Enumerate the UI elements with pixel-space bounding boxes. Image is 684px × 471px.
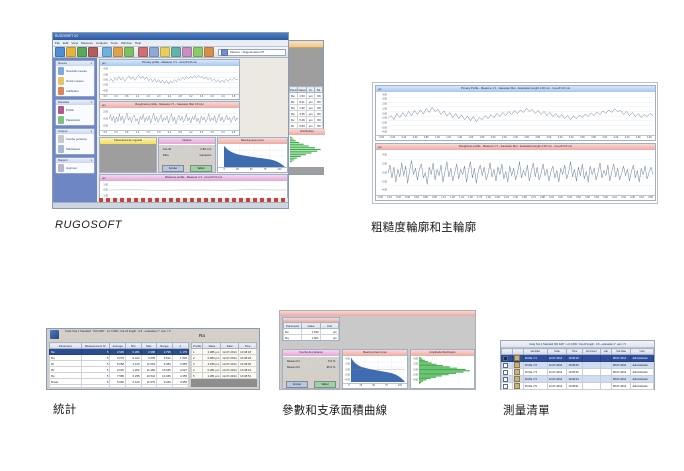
table-row[interactable]: Profile n°3 12-07-2014 10:48:36 08-07-20… <box>502 369 654 376</box>
cell-date: 12-07-2014 <box>547 369 567 376</box>
new-file-icon[interactable] <box>55 47 65 57</box>
sidebar-item-profils[interactable]: Profils <box>56 105 94 115</box>
table-row[interactable]: Profile n°2 12-07-2014 10:48:29 08-07-20… <box>502 362 654 369</box>
x-tick: 1.80 <box>480 136 485 139</box>
sidebar-item-label: Nouvelle mesure <box>66 69 87 73</box>
checkbox-icon[interactable] <box>503 384 508 389</box>
cell-value: 1.081 µm <box>203 373 221 379</box>
sidebar-item-label: Statistiques <box>66 147 80 151</box>
chevron-icon[interactable]: ▾ <box>91 158 92 163</box>
bac-window[interactable]: Parameter Value Unit Ra1.530µm Rq1.921µm… <box>279 310 476 390</box>
cell-identifier: Profile n°5 <box>523 383 547 390</box>
bac-options-fields: Niveau C1 5.0 % Niveau C2 95.0 % <box>285 357 338 370</box>
row-checkbox-cell[interactable] <box>502 383 513 390</box>
cell-unit: µm <box>306 123 314 129</box>
y-tick: 4.00 <box>382 93 387 96</box>
cell-date: 12-07-2014 <box>221 373 239 379</box>
panel-title-parameters: Paramètres de rugosité <box>114 138 142 144</box>
chart-roughness-profile[interactable]: µm Roughness profile - Measure n°1 - Gau… <box>99 101 240 136</box>
primary-profile-trace <box>109 67 238 93</box>
chart-plot-hist: 4.00 2.00 0.00 -2.00 -4.00 <box>411 356 474 389</box>
x-tick: 3.04 <box>549 196 554 199</box>
x-tick: 0.16 <box>387 196 392 199</box>
stats-tab-ra[interactable]: Ra <box>199 333 205 338</box>
x-tick: 25 <box>236 168 239 171</box>
table-row[interactable]: RSm 5 75 48 67 27 12 <box>50 385 189 388</box>
y-tick: 2.00 <box>382 162 387 165</box>
x-tick: 2.24 <box>504 196 509 199</box>
row-checkbox-cell[interactable] <box>502 362 513 369</box>
x-tick: 2.56 <box>522 196 527 199</box>
x-tick: 2.8 <box>178 131 181 134</box>
x-tick: 0.64 <box>414 196 419 199</box>
x-tick: 2.00 <box>491 136 496 139</box>
cell-tol: OK <box>314 123 322 129</box>
x-tick: 1.20 <box>446 136 451 139</box>
x-tick: 3.6 <box>200 131 203 134</box>
x-tick: 3.2 <box>189 131 192 134</box>
cancel-button[interactable]: Annuler <box>286 381 308 388</box>
address-bar[interactable]: Mesure - Rugosimètre RT <box>218 49 286 56</box>
option-value[interactable]: 95.0 % <box>311 364 337 370</box>
chart-histogram-right[interactable]: Distribution <box>289 129 325 167</box>
caption-measurement-list: 測量清單 <box>503 402 550 418</box>
sidebar-group-title-resultats: Résultats <box>58 100 69 105</box>
bac-param-table[interactable]: Parameter Value Unit Ra1.530µm Rq1.921µm… <box>283 322 339 341</box>
x-tick: 0.80 <box>424 136 429 139</box>
sidebar-group-analyse[interactable]: Analyse ▾ Courbe portance Statistiques <box>55 128 95 155</box>
y-tick: 1.00 <box>382 107 387 110</box>
chart-icon[interactable] <box>171 47 181 57</box>
x-tick: 0.48 <box>405 196 410 199</box>
x-tick: 4.80 <box>647 136 652 139</box>
settings-icon[interactable] <box>221 49 228 56</box>
y-tick: 2.00 <box>382 103 387 106</box>
x-tick: 0.0 <box>104 95 107 98</box>
profiles-window[interactable]: µm Primary Profile - Measure n°1 - Gauss… <box>372 82 658 204</box>
caption-statistics: 統計 <box>53 401 76 417</box>
cell-lab <box>600 376 611 383</box>
x-tick: 0.4 <box>114 131 117 134</box>
table-row[interactable]: Profile n°4 12-07-2014 10:48:44 08-07-20… <box>502 376 654 383</box>
x-tick: 3.84 <box>594 196 599 199</box>
cell-time: 10:48:51 <box>239 373 257 379</box>
y-axis-primary-large: 4.00 3.00 2.00 1.00 0.00 -1.00 -2.00 -3.… <box>376 92 388 135</box>
cell-count: 5 <box>81 385 110 388</box>
menu-item-analysis[interactable]: Analysis <box>96 40 108 47</box>
panel-header-bac-options: Courbe de portance <box>283 350 339 356</box>
caption-parameters-bac: 參數和支承面積曲線 <box>282 402 387 418</box>
x-tick: 4.4 <box>221 131 224 134</box>
chart-roughness-profile-large[interactable]: µm Roughness profile - Measure n°1 - Gau… <box>375 143 656 201</box>
cell-param: Rt <box>290 123 298 129</box>
cell-user: Administrator <box>631 355 654 362</box>
x-tick: 0.32 <box>396 196 401 199</box>
y-tick: 2.00 <box>345 363 350 366</box>
x-tick: 4.00 <box>603 196 608 199</box>
row-icon-cell <box>512 369 523 376</box>
x-tick: 3.80 <box>591 136 596 139</box>
row-checkbox-cell[interactable] <box>502 376 513 383</box>
y-axis-roughness-large: 4.00 2.00 0.00 -2.00 -4.00 <box>376 150 388 195</box>
cell-lab <box>600 362 611 369</box>
table-row[interactable]: Filtre Gaussien <box>161 152 213 158</box>
cell-time: 10:48:44 <box>567 376 582 383</box>
folder-icon <box>58 77 64 85</box>
chevron-icon[interactable]: ▾ <box>91 61 92 66</box>
menu-item-tools[interactable]: Tools <box>111 40 118 47</box>
right-panel-table-header <box>289 41 323 48</box>
cell-date: 12-07-2014 <box>547 362 567 369</box>
x-tick: 4.8 <box>232 131 235 134</box>
sidebar-item-ouvrir-mesure[interactable]: Ouvrir mesure <box>56 76 94 86</box>
x-tick: 2.40 <box>513 136 518 139</box>
menu-item-window[interactable]: Window <box>121 40 132 47</box>
x-tick: 0.0 <box>104 131 107 134</box>
menu-item-measure[interactable]: Measure <box>81 40 93 47</box>
row-checkbox-cell[interactable] <box>502 369 513 376</box>
stats-side-wrap[interactable]: Profile Value Date Time 1 2.986 µm 12-07… <box>191 342 257 387</box>
y-tick: -2.00 <box>382 180 387 183</box>
chart-plot-histogram-right <box>289 135 325 166</box>
cell-range: 27 <box>157 385 173 388</box>
x-tick: 3.00 <box>547 136 552 139</box>
cell-comment <box>582 376 600 383</box>
x-tick: 3.40 <box>569 136 574 139</box>
x-tick: 3.6 <box>200 95 203 98</box>
table-row[interactable]: Profile n°5 12-07-2014 10:48:51 08-07-20… <box>502 383 654 390</box>
doc-icon <box>514 355 520 361</box>
x-tick: 4.48 <box>630 196 635 199</box>
y-axis-primary: 4.00 2.00 0.00 -2.00 -4.00 <box>100 66 109 94</box>
x-tick: 4.80 <box>648 196 653 199</box>
chart-unit-roughness: µm <box>102 104 106 107</box>
menu-item-help[interactable]: Help <box>135 40 141 47</box>
x-tick: 0 <box>348 384 349 387</box>
panel-bac-options[interactable]: Courbe de portance Niveau C1 5.0 % Nivea… <box>282 349 340 389</box>
app-logo-icon <box>50 330 59 339</box>
cell-time: 10:48:36 <box>567 369 582 376</box>
cell-unit: µm <box>320 341 338 342</box>
panel-body-params-table: Parameter Value Unit Ra1.530µm Rq1.921µm… <box>283 322 339 341</box>
x-tick: 2.4 <box>168 131 171 134</box>
x-axis-primary: 0.0 0.4 0.8 1.2 1.6 2.0 2.4 2.8 3.2 3.6 … <box>100 94 239 100</box>
y-tick: 0.00 <box>382 112 387 115</box>
cut-icon[interactable] <box>102 47 112 57</box>
y-tick: -4.00 <box>103 89 108 92</box>
row-checkbox-cell[interactable] <box>502 355 513 362</box>
x-axis-roughness-large: 0.00 0.16 0.32 0.48 0.64 0.80 0.96 1.12 … <box>376 195 655 201</box>
x-tick: 25 <box>360 384 363 387</box>
table-row[interactable]: Rz8.210µm <box>284 341 339 342</box>
sidebar-item-label: Imprimer <box>66 166 77 170</box>
cell-caldate: 08-07-2014 <box>611 355 631 362</box>
bac-area-path <box>351 357 405 382</box>
x-tick: 2.40 <box>513 196 518 199</box>
measurement-list-window[interactable]: Code Test 1 Standard ISO 4287 - LC 0.800… <box>500 340 655 390</box>
profile-values-table[interactable]: Profile Value Date Time 1 2.986 µm 12-07… <box>191 342 257 379</box>
y-tick: -4.00 <box>413 379 418 382</box>
stats-table-wrap[interactable]: Parameter Measurement N° Average Min Max… <box>49 342 189 387</box>
y-tick: -2.00 <box>382 121 387 124</box>
chart-plot-primary-large: 4.00 3.00 2.00 1.00 0.00 -1.00 -2.00 -3.… <box>376 92 655 141</box>
x-tick: 1.00 <box>435 136 440 139</box>
x-tick: 4.00 <box>602 136 607 139</box>
status-bar <box>53 202 288 208</box>
x-tick: 3.36 <box>567 196 572 199</box>
sidebar-item-courbe-portance[interactable]: Courbe portance <box>56 134 94 144</box>
measure-icon[interactable] <box>160 47 170 57</box>
option-label: Filtre <box>161 152 187 158</box>
statistics-window[interactable]: Code Test 1 Standard : ISO 4287 - LC 0.8… <box>46 328 260 390</box>
x-tick: 1.2 <box>136 131 139 134</box>
x-tick: 1.40 <box>457 136 462 139</box>
sidebar[interactable]: Mesure ▾ Nouvelle mesure Ouvrir mesure C… <box>53 58 97 203</box>
y-tick: 3.00 <box>382 98 387 101</box>
x-tick: 0.00 <box>378 196 383 199</box>
doc-icon <box>514 369 520 375</box>
chart-plot-primary: 4.00 2.00 0.00 -2.00 -4.00 0.0 0.4 0.8 1… <box>100 66 239 100</box>
address-label: Mesure - Rugosimètre RT <box>230 49 264 56</box>
x-tick: 1.28 <box>450 196 455 199</box>
x-tick: 4.32 <box>621 196 626 199</box>
cell-identifier: Profile n°3 <box>523 369 547 376</box>
x-tick: 3.68 <box>585 196 590 199</box>
x-axis-bac-main: 0 25 50 75 100 <box>218 167 287 173</box>
doc-icon <box>514 362 520 368</box>
cell-value: 9.84 <box>298 123 306 129</box>
sidebar-group-mesure[interactable]: Mesure ▾ Nouvelle mesure Ouvrir mesure C… <box>55 60 95 97</box>
open-folder-icon[interactable] <box>66 47 76 57</box>
cell-value: 8.210 <box>302 341 320 342</box>
x-tick: 0.8 <box>125 131 128 134</box>
option-value[interactable]: Gaussien <box>187 152 213 158</box>
checkbox-icon[interactable] <box>503 356 508 361</box>
cell-lab <box>600 383 611 390</box>
x-tick: 0.40 <box>402 136 407 139</box>
panel-body-bac-options: Niveau C1 5.0 % Niveau C2 95.0 % Annuler… <box>283 357 339 389</box>
y-tick: 2.00 <box>413 363 418 366</box>
right-param-table[interactable]: Param Valeur Ut Tol Ra1.53µmOK Rz8.21µmO… <box>289 86 323 129</box>
export-icon[interactable] <box>204 47 214 57</box>
mlist-title-bar: Code Test 1 Standard ISO 4287 - LC 0.800… <box>501 341 654 348</box>
table-row[interactable]: 5 1.081 µm 12-07-2014 10:48:51 <box>192 373 257 379</box>
stats-header: Code Test 1 Standard : ISO 4287 - LC 0.8… <box>47 329 259 341</box>
checkbox-icon[interactable] <box>503 377 508 382</box>
zoom-out-icon[interactable] <box>149 47 159 57</box>
menu-item-edit[interactable]: Edit <box>63 40 68 47</box>
calib-icon <box>58 87 64 95</box>
filter-icon[interactable] <box>182 47 192 57</box>
zoom-in-icon[interactable] <box>138 47 148 57</box>
cell-identifier: Profile n°4 <box>523 376 547 383</box>
chart-bearing-area-main[interactable]: Bearing area curve 0 25 50 75 100 <box>217 137 288 173</box>
checkbox-icon[interactable] <box>503 370 508 375</box>
chart-primary-profile[interactable]: µm Primary profile - Measure n°1 - Cut-o… <box>99 59 240 100</box>
y-tick: -3.00 <box>382 126 387 129</box>
chart-unit-primary-large: µm <box>378 88 382 91</box>
y-tick: 0.00 <box>382 171 387 174</box>
panel-options[interactable]: Options Cut-off 0.80 mm Filtre Gaussien … <box>158 137 216 173</box>
x-tick: 4.4 <box>221 95 224 98</box>
validate-button[interactable]: Valider <box>314 381 336 388</box>
panel-body-options: Cut-off 0.80 mm Filtre Gaussien Annuler … <box>159 145 215 173</box>
x-tick: 4.0 <box>211 95 214 98</box>
chart-bearing-area-curve[interactable]: Bearing Area Curve 4.00 2.00 0.00 -2.00 … <box>342 349 408 389</box>
roughness-large-trace <box>388 151 653 194</box>
y-tick: -2.00 <box>345 373 350 376</box>
x-tick: 3.20 <box>558 136 563 139</box>
x-tick: 1.44 <box>459 196 464 199</box>
toolbar[interactable]: Mesure - Rugosimètre RT <box>53 47 288 58</box>
main-right-panel[interactable]: Param Valeur Ut Tol Ra1.53µmOK Rz8.21µmO… <box>288 40 324 175</box>
waviness-trace <box>109 182 286 198</box>
cell-comment <box>582 369 600 376</box>
y-axis-hist: 4.00 2.00 0.00 -2.00 -4.00 <box>411 356 419 383</box>
sidebar-item-label: Profils <box>66 108 74 112</box>
cell-time: 10:48:18 <box>567 355 582 362</box>
cell-date: 12-07-2014 <box>547 383 567 390</box>
panel-title-bac-options: Courbe de portance <box>299 350 323 356</box>
checkbox-icon[interactable] <box>503 363 508 368</box>
table-row[interactable]: Rt9.84µmOK <box>290 123 323 129</box>
x-tick: 2.88 <box>540 196 545 199</box>
print-icon[interactable] <box>88 47 98 57</box>
y-tick: 0.00 <box>413 368 418 371</box>
cell-comment <box>582 355 600 362</box>
menu-item-view[interactable]: View <box>71 40 78 47</box>
statistics-table[interactable]: Parameter Measurement N° Average Min Max… <box>49 342 189 387</box>
cell-time: 10:48:51 <box>567 383 582 390</box>
doc-icon <box>514 383 520 389</box>
y-tick: 4.00 <box>345 357 350 360</box>
cell-parameter: RSm <box>50 385 82 388</box>
x-tick: 3.52 <box>576 196 581 199</box>
x-tick: 2.0 <box>157 131 160 134</box>
menu-bar[interactable]: File Edit View Measure Analysis Tools Wi… <box>53 40 288 47</box>
caption-profiles: 粗糙度輪廓和主輪廓 <box>371 219 476 235</box>
x-tick: 4.20 <box>614 136 619 139</box>
x-tick: 4.0 <box>211 131 214 134</box>
cell-lab <box>600 369 611 376</box>
probe-icon <box>58 67 64 75</box>
menu-item-file[interactable]: File <box>55 40 60 47</box>
y-tick: 0.00 <box>103 118 108 121</box>
x-tick: 2.20 <box>502 136 507 139</box>
sidebar-group-title-analyse: Analyse <box>58 129 68 134</box>
sidebar-item-label: Ouvrir mesure <box>66 79 84 83</box>
caption-rugosoft: RUGOSOFT <box>55 219 122 231</box>
sidebar-group-title-rapport: Rapport <box>58 158 68 163</box>
x-tick: 2.60 <box>524 136 529 139</box>
save-icon[interactable] <box>77 47 87 57</box>
x-tick: 0.20 <box>390 136 395 139</box>
paste-icon[interactable] <box>124 47 134 57</box>
copy-icon[interactable] <box>113 47 123 57</box>
sidebar-item-parametres[interactable]: Paramètres <box>56 115 94 125</box>
chevron-icon[interactable]: ▾ <box>91 100 92 105</box>
chart-plot-roughness: 2.00 0.00 -2.00 0.0 0.4 0.8 1.2 1.6 2.0 … <box>100 108 239 136</box>
x-tick: 0.8 <box>125 95 128 98</box>
y-axis-waviness: 1.00 0.00 -1.00 <box>100 181 109 199</box>
right-panel-param-table[interactable]: Param Valeur Ut Tol Ra1.53µmOK Rz8.21µmO… <box>289 86 323 129</box>
panel-parameters-table[interactable]: Parameter Value Unit Ra1.530µm Rq1.921µm… <box>282 317 340 341</box>
x-tick: 1.76 <box>477 196 482 199</box>
cell-caldate: 08-07-2014 <box>611 376 631 383</box>
y-tick: -2.00 <box>103 84 108 87</box>
chart-plot-bac: 4.00 2.00 0.00 -2.00 -4.00 0 25 50 75 <box>343 356 407 389</box>
chart-primary-profile-large[interactable]: µm Primary Profile - Measure n°1 - Gauss… <box>375 85 656 141</box>
x-tick: 0.4 <box>114 95 117 98</box>
chevron-icon[interactable]: ▾ <box>91 129 92 134</box>
panel-parameters[interactable]: Paramètres de rugosité <box>99 137 157 173</box>
x-tick: 2.72 <box>531 196 536 199</box>
cell-user: Administrator <box>631 369 654 376</box>
sidebar-item-statistiques[interactable]: Statistiques <box>56 144 94 154</box>
y-tick: 0.00 <box>345 368 350 371</box>
curve-icon <box>58 135 64 143</box>
x-axis-roughness: 0.0 0.4 0.8 1.2 1.6 2.0 2.4 2.8 3.2 3.6 … <box>100 130 239 136</box>
chart-amplitude-distribution[interactable]: Amplitude Distribution 4.00 2.00 0.00 -2… <box>410 349 475 389</box>
panel-header-options: Options <box>159 138 215 144</box>
y-tick: 4.00 <box>382 153 387 156</box>
hist-bars <box>419 357 472 384</box>
y-tick: -1.00 <box>103 194 108 197</box>
validate-button[interactable]: Valider <box>190 165 212 172</box>
mlist-title: Code Test 1 Standard ISO 4287 - LC 0.800… <box>529 343 626 346</box>
cancel-button[interactable]: Annuler <box>162 165 184 172</box>
row-icon-cell <box>512 355 523 362</box>
x-tick: 2.08 <box>495 196 500 199</box>
x-tick: 2.8 <box>178 95 181 98</box>
sidebar-group-resultats[interactable]: Résultats ▾ Profils Paramètres <box>55 99 95 126</box>
y-tick: -2.00 <box>413 373 418 376</box>
y-tick: -4.00 <box>382 131 387 134</box>
y-axis-bac: 4.00 2.00 0.00 -2.00 -4.00 <box>343 356 351 383</box>
sidebar-item-calibration[interactable]: Calibration <box>56 86 94 96</box>
cell-parameter: Rz <box>284 341 302 342</box>
x-tick: 1.92 <box>486 196 491 199</box>
x-tick: 3.60 <box>580 136 585 139</box>
stats-icon[interactable] <box>193 47 203 57</box>
table-row[interactable]: Profile n°1 12-07-2014 10:48:18 08-07-20… <box>502 355 654 362</box>
y-tick: -2.00 <box>103 124 108 127</box>
chart-unit-primary: µm <box>102 62 106 65</box>
cell-user: Administrator <box>631 383 654 390</box>
printer-icon <box>58 164 64 172</box>
y-tick: 0.00 <box>103 79 108 82</box>
cell-comment <box>582 362 600 369</box>
x-tick: 4.8 <box>232 95 235 98</box>
sidebar-group-title-mesure: Mesure <box>58 61 67 66</box>
cell-caldate: 08-07-2014 <box>611 362 631 369</box>
sidebar-item-imprimer[interactable]: Imprimer <box>56 163 94 173</box>
panel-body-parameters <box>100 144 156 173</box>
bac-main-area <box>224 145 285 167</box>
rugosoft-main-window[interactable]: RUGOSOFT 3.0 File Edit View Measure Anal… <box>52 32 289 209</box>
sidebar-group-rapport[interactable]: Rapport ▾ Imprimer <box>55 157 95 174</box>
measurement-list-table[interactable]: Identifier Date Time Comment Lab Cal Dat… <box>501 348 654 390</box>
x-tick: 1.60 <box>469 136 474 139</box>
y-tick: 4.00 <box>413 357 418 360</box>
sidebar-item-label: Paramètres <box>66 118 80 122</box>
table-row[interactable]: Niveau C2 95.0 % <box>285 364 337 370</box>
sidebar-item-nouvelle-mesure[interactable]: Nouvelle mesure <box>56 66 94 76</box>
x-tick: 2.0 <box>157 95 160 98</box>
x-tick: 4.60 <box>636 136 641 139</box>
y-axis-roughness: 2.00 0.00 -2.00 <box>100 108 109 130</box>
x-tick: 3.2 <box>189 95 192 98</box>
